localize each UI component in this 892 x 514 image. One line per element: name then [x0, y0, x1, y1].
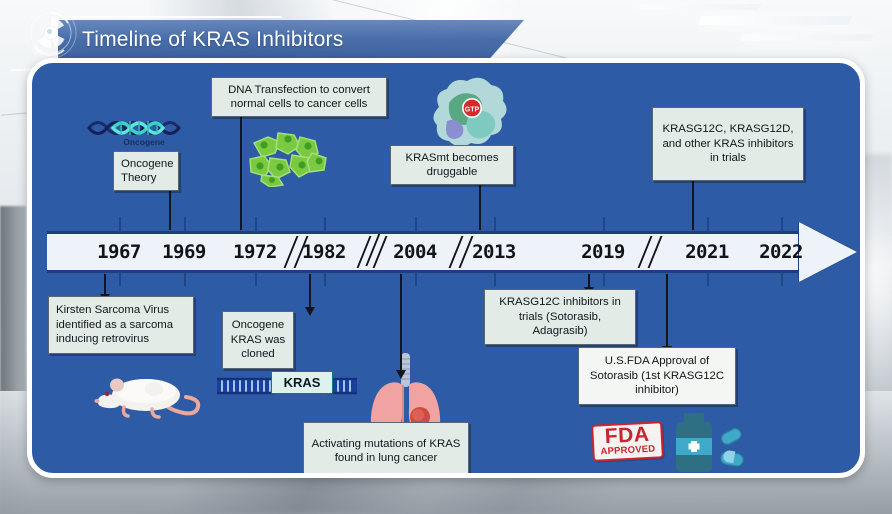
axis-arrowhead-icon: [799, 222, 857, 282]
axis-tick: [707, 217, 709, 231]
kras-gene-label: KRAS: [271, 371, 333, 394]
event-text: KRASG12C inhibitors in trials (Sotorasib…: [492, 295, 628, 338]
page-title: Timeline of KRAS Inhibitors: [82, 28, 343, 52]
connector-2021: [666, 274, 668, 347]
event-box-krasmt-druggable[interactable]: KRASmt becomes druggable: [390, 145, 514, 185]
header-rule: [62, 16, 282, 18]
axis-tick: [603, 217, 605, 231]
year-label-1967: 1967: [97, 241, 141, 263]
connector-1967: [104, 274, 106, 295]
year-label-1972: 1972: [233, 241, 277, 263]
axis-tick: [255, 273, 257, 286]
year-label-2022: 2022: [759, 241, 803, 263]
axis-tick: [781, 217, 783, 231]
year-label-2021: 2021: [685, 241, 729, 263]
lab-mouse-icon: [90, 363, 202, 419]
medicine-bottle-icon: [666, 413, 748, 475]
year-label-2013: 2013: [472, 241, 516, 263]
event-box-activating-mutations[interactable]: Activating mutations of KRAS found in lu…: [303, 422, 469, 478]
event-text: Oncogene Theory: [121, 157, 174, 186]
oncogene-helix-label: Oncogene: [104, 137, 184, 147]
connector-2004: [400, 274, 402, 371]
cancer-cells-cluster-icon: [242, 125, 338, 187]
axis-tick: [494, 217, 496, 231]
ceiling-lamp: [639, 4, 762, 10]
axis-tick: [119, 217, 121, 231]
event-box-g12c-trials[interactable]: KRASG12C inhibitors in trials (Sotorasib…: [484, 289, 636, 345]
axis-tick: [324, 217, 326, 231]
event-text: U.S.FDA Approval of Sotorasib (1st KRASG…: [586, 354, 728, 397]
axis-tick: [603, 273, 605, 286]
circular-tech-logo-icon: [20, 6, 82, 62]
year-label-2004: 2004: [393, 241, 437, 263]
year-label-2019: 2019: [581, 241, 625, 263]
axis-tick: [415, 217, 417, 231]
event-box-oncogene-theory[interactable]: Oncogene Theory: [113, 151, 179, 191]
timeline-panel: Oncogene GTP: [27, 58, 865, 478]
event-text: Kirsten Sarcoma Virus identified as a sa…: [56, 303, 186, 346]
axis-tick: [184, 217, 186, 231]
year-label-1969: 1969: [162, 241, 206, 263]
event-text: Oncogene KRAS was cloned: [230, 318, 286, 361]
axis-tick: [707, 273, 709, 286]
ceiling-lamp: [698, 16, 852, 25]
kras-protein-gtp-icon: GTP: [427, 77, 511, 153]
event-text: KRASmt becomes druggable: [398, 151, 506, 180]
svg-text:GTP: GTP: [465, 106, 480, 113]
event-box-kras-cloned[interactable]: Oncogene KRAS was cloned: [222, 311, 294, 369]
fda-approved-stamp-icon: FDA APPROVED: [591, 421, 664, 462]
axis-tick: [184, 273, 186, 286]
event-text: KRASG12C, KRASG12D, and other KRAS inhib…: [660, 122, 796, 165]
axis-tick: [119, 273, 121, 286]
axis-tick: [255, 217, 257, 231]
axis-tick: [494, 273, 496, 286]
axis-tick: [781, 273, 783, 286]
axis-tick: [415, 273, 417, 286]
connector-1982: [309, 274, 311, 308]
ceiling-lamp: [740, 34, 873, 41]
event-box-dna-transfection[interactable]: DNA Transfection to convert normal cells…: [211, 77, 387, 117]
event-box-kirsten-sarcoma[interactable]: Kirsten Sarcoma Virus identified as a sa…: [48, 296, 194, 354]
event-box-kras-inhibitors-trials[interactable]: KRASG12C, KRASG12D, and other KRAS inhib…: [652, 107, 804, 181]
event-text: Activating mutations of KRAS found in lu…: [311, 437, 461, 466]
connector-2019: [588, 274, 590, 288]
fda-stamp-subtitle: APPROVED: [600, 445, 655, 458]
timeline-stage: Oncogene GTP: [32, 63, 860, 473]
event-box-fda-approval[interactable]: U.S.FDA Approval of Sotorasib (1st KRASG…: [578, 347, 736, 405]
timeline-axis: 196719691972198220042013201920212022: [47, 231, 857, 273]
axis-tick: [324, 273, 326, 286]
connector-1972: [240, 110, 242, 230]
year-label-1982: 1982: [302, 241, 346, 263]
event-text: DNA Transfection to convert normal cells…: [219, 83, 379, 112]
